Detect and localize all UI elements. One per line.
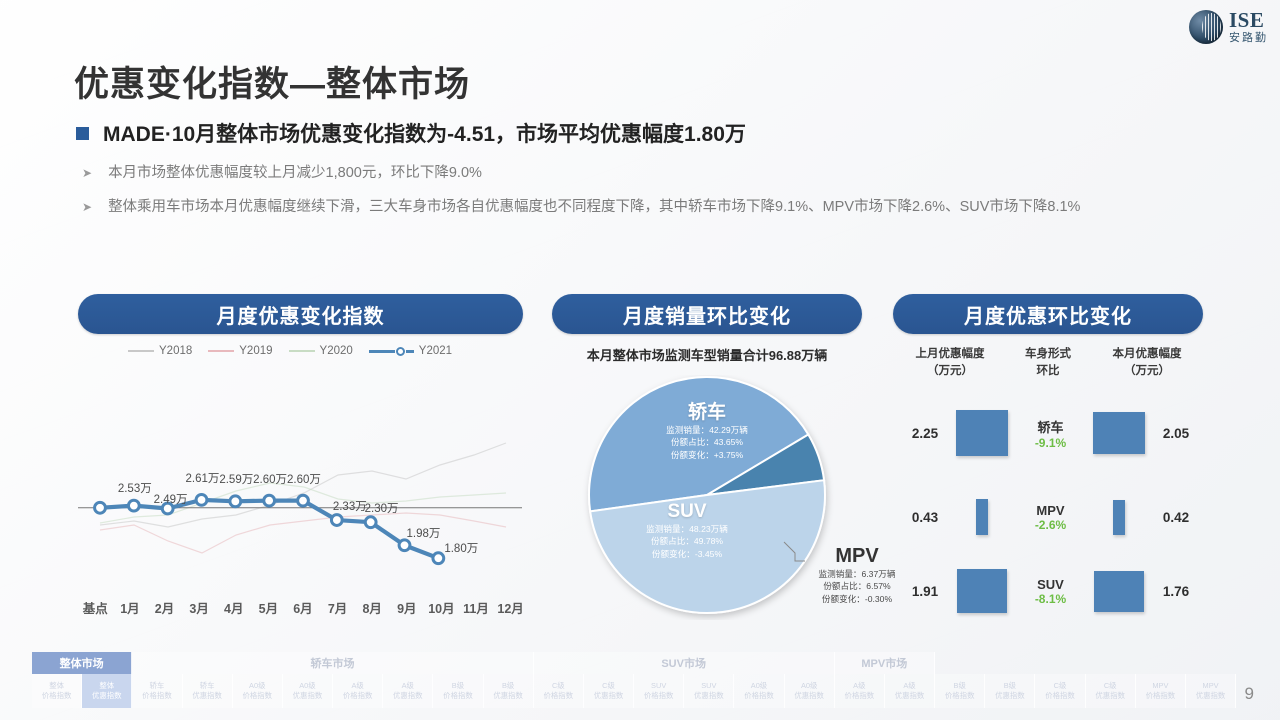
- nav-tab-14[interactable]: A0级价格指数: [734, 674, 784, 708]
- panel-title-pie-chart: 月度销量环比变化: [552, 294, 862, 334]
- nav-tab-13[interactable]: SUV优惠指数: [684, 674, 734, 708]
- headline: MADE·10月整体市场优惠变化指数为-4.51，市场平均优惠幅度1.80万: [76, 118, 746, 148]
- legend-label: Y2021: [419, 345, 452, 357]
- legend-item-Y2020: Y2020: [289, 345, 353, 357]
- line-data-point: [331, 515, 342, 526]
- legend-line-icon: [406, 350, 414, 353]
- change-percent: -8.1%: [1018, 592, 1083, 606]
- nav-tab-line2: 价格指数: [1146, 691, 1176, 701]
- x-tick-label: 2月: [147, 598, 182, 617]
- nav-tab-line1: A0级: [299, 681, 315, 691]
- nav-tab-line1: SUV: [701, 681, 716, 691]
- bar-row-label: 轿车-9.1%: [1018, 417, 1083, 450]
- nav-tab-0[interactable]: 整体价格指数: [32, 674, 82, 708]
- nav-tab-line2: 价格指数: [945, 691, 975, 701]
- x-tick-label: 1月: [113, 598, 148, 617]
- nav-tab-line1: C级: [552, 681, 565, 691]
- line-point-label: 1.80万: [444, 540, 478, 556]
- nav-tab-line1: 轿车: [150, 681, 165, 691]
- nav-tab-row[interactable]: 整体价格指数整体优惠指数轿车价格指数轿车优惠指数A0级价格指数A0级优惠指数A级…: [32, 674, 1236, 708]
- nav-tab-line2: 优惠指数: [393, 691, 423, 701]
- pie-chart-subtitle: 本月整体市场监测车型销量合计96.88万辆: [552, 345, 862, 364]
- change-percent: -9.1%: [1018, 436, 1083, 450]
- nav-tab-line2: 优惠指数: [1095, 691, 1125, 701]
- line-point-label: 2.33万: [333, 498, 367, 514]
- bar-col-header-prev: 上月优惠幅度（万元）: [898, 346, 1002, 381]
- headline-text: MADE·10月整体市场优惠变化指数为-4.51，市场平均优惠幅度1.80万: [103, 118, 746, 148]
- line-data-point: [128, 500, 139, 511]
- line-data-point: [399, 540, 410, 551]
- nav-tab-23[interactable]: MPV优惠指数: [1186, 674, 1236, 708]
- nav-tab-line2: 优惠指数: [594, 691, 624, 701]
- nav-tab-18[interactable]: B级价格指数: [935, 674, 985, 708]
- line-point-label: 2.61万: [186, 470, 220, 486]
- nav-tab-line2: 价格指数: [644, 691, 674, 701]
- line-data-point: [95, 502, 106, 513]
- x-tick-label: 基点: [78, 598, 113, 617]
- legend-line-icon: [128, 350, 154, 352]
- nav-tab-line1: A级: [853, 681, 865, 691]
- nav-group-MPV市场[interactable]: MPV市场: [835, 652, 935, 674]
- current-value: 2.05: [1155, 426, 1203, 441]
- line-data-point: [298, 495, 309, 506]
- nav-tab-line2: 价格指数: [845, 691, 875, 701]
- bottom-navigation[interactable]: 整体市场轿车市场SUV市场MPV市场 整体价格指数整体优惠指数轿车价格指数轿车优…: [32, 652, 1236, 708]
- nav-tab-line2: 价格指数: [42, 691, 72, 701]
- nav-tab-line1: C级: [602, 681, 615, 691]
- nav-tab-line1: C级: [1054, 681, 1067, 691]
- nav-tab-line1: B级: [1004, 681, 1016, 691]
- line-point-label: 2.60万: [253, 471, 287, 487]
- line-data-point: [264, 495, 275, 506]
- nav-tab-line2: 优惠指数: [1196, 691, 1226, 701]
- category-name: MPV: [1018, 503, 1083, 518]
- bar-row-label: SUV-8.1%: [1018, 577, 1083, 606]
- legend-label: Y2019: [239, 345, 272, 357]
- x-tick-label: 4月: [216, 598, 251, 617]
- nav-tab-line2: 优惠指数: [192, 691, 222, 701]
- brand-name: ISE: [1229, 10, 1268, 31]
- nav-tab-15[interactable]: A0级优惠指数: [785, 674, 835, 708]
- legend-item-Y2019: Y2019: [208, 345, 272, 357]
- prev-bar: [956, 410, 1008, 456]
- page-number: 9: [1245, 684, 1254, 704]
- nav-tab-line1: A0级: [249, 681, 265, 691]
- nav-tab-line2: 优惠指数: [794, 691, 824, 701]
- bar-compare-row: 2.25轿车-9.1%2.05: [898, 398, 1203, 468]
- nav-tab-line1: A级: [402, 681, 414, 691]
- line-point-label: 2.49万: [154, 491, 188, 507]
- legend-item-Y2018: Y2018: [128, 345, 192, 357]
- nav-tab-line1: SUV: [651, 681, 666, 691]
- pie-slice-label-suv: SUV 监测销量：48.23万辆 份额占比：49.78% 份额变化：-3.45%: [582, 501, 792, 560]
- x-tick-label: 6月: [286, 598, 321, 617]
- brand-logo: ISE 安路勤: [1189, 10, 1268, 44]
- current-bar-cell: [1083, 500, 1155, 535]
- nav-tab-line1: B级: [954, 681, 966, 691]
- nav-tab-1[interactable]: 整体优惠指数: [82, 674, 132, 708]
- nav-tab-line2: 优惠指数: [493, 691, 523, 701]
- prev-bar-cell: [946, 569, 1018, 613]
- line-point-label: 2.60万: [287, 471, 321, 487]
- current-value: 1.76: [1155, 584, 1203, 599]
- nav-tab-20[interactable]: C级价格指数: [1035, 674, 1085, 708]
- legend-item-Y2021: Y2021: [369, 345, 452, 357]
- line-chart-legend: Y2018Y2019Y2020Y2021: [128, 345, 478, 357]
- bullet-text: 整体乘用车市场本月优惠幅度继续下滑，三大车身市场各自优惠幅度也不同程度下降，其中…: [108, 196, 1080, 220]
- nav-tab-line2: 价格指数: [744, 691, 774, 701]
- bar-col-header-change: 车身形式环比: [1000, 346, 1096, 381]
- category-name: 轿车: [1018, 417, 1083, 436]
- current-bar-cell: [1083, 412, 1155, 454]
- bar-col-header-current: 本月优惠幅度（万元）: [1094, 346, 1200, 381]
- prev-bar: [976, 499, 988, 535]
- nav-tab-11[interactable]: C级优惠指数: [584, 674, 634, 708]
- nav-tab-line1: MPV: [1203, 681, 1219, 691]
- nav-tab-line1: C级: [1104, 681, 1117, 691]
- nav-tab-line2: 优惠指数: [694, 691, 724, 701]
- bar-compare-row: 0.43MPV-2.6%0.42: [898, 482, 1203, 552]
- nav-tab-line2: 价格指数: [142, 691, 172, 701]
- legend-line-icon: [369, 350, 395, 353]
- nav-tab-line1: 整体: [99, 681, 114, 691]
- nav-group-row[interactable]: 整体市场轿车市场SUV市场MPV市场: [32, 652, 1236, 674]
- nav-tab-8[interactable]: B级价格指数: [433, 674, 483, 708]
- nav-tab-line1: A级: [351, 681, 363, 691]
- legend-label: Y2018: [159, 345, 192, 357]
- monthly-discount-index-line-chart: [78, 375, 528, 620]
- pie-slice-label-sedan: 轿车 监测销量：42.29万辆 份额占比：43.65% 份额变化：+3.75%: [592, 397, 822, 461]
- nav-tab-line1: A0级: [801, 681, 817, 691]
- nav-tab-4[interactable]: A0级价格指数: [233, 674, 283, 708]
- current-bar: [1093, 412, 1145, 454]
- change-percent: -2.6%: [1018, 518, 1083, 532]
- nav-tab-line2: 优惠指数: [895, 691, 925, 701]
- line-point-label: 1.98万: [407, 525, 441, 541]
- x-tick-label: 3月: [182, 598, 217, 617]
- nav-group-整体市场[interactable]: 整体市场: [32, 652, 132, 674]
- slide-canvas: ISE 安路勤 优惠变化指数—整体市场 MADE·10月整体市场优惠变化指数为-…: [0, 0, 1280, 720]
- line-data-point: [365, 517, 376, 528]
- line-point-label: 2.59万: [219, 471, 253, 487]
- nav-tab-line2: 优惠指数: [293, 691, 323, 701]
- legend-line-icon: [208, 350, 234, 352]
- bar-row-label: MPV-2.6%: [1018, 503, 1083, 532]
- globe-icon: [1189, 10, 1223, 44]
- bullet-item: ➤ 本月市场整体优惠幅度较上月减少1,800元，环比下降9.0%: [82, 162, 1202, 186]
- nav-tab-line2: 优惠指数: [995, 691, 1025, 701]
- nav-tab-12[interactable]: SUV价格指数: [634, 674, 684, 708]
- nav-tab-22[interactable]: MPV价格指数: [1136, 674, 1186, 708]
- nav-tab-line1: B级: [452, 681, 464, 691]
- nav-tab-line2: 价格指数: [343, 691, 373, 701]
- x-tick-label: 12月: [493, 598, 528, 617]
- nav-group-SUV市场[interactable]: SUV市场: [534, 652, 835, 674]
- nav-tab-17[interactable]: A级优惠指数: [885, 674, 935, 708]
- bullet-square-icon: [76, 127, 89, 140]
- nav-tab-line2: 价格指数: [544, 691, 574, 701]
- nav-tab-line2: 价格指数: [443, 691, 473, 701]
- nav-tab-line1: B级: [502, 681, 514, 691]
- current-value: 0.42: [1155, 510, 1203, 525]
- panel-title-bar-chart: 月度优惠环比变化: [893, 294, 1203, 334]
- prev-value: 1.91: [898, 584, 946, 599]
- bar-compare-row: 1.91SUV-8.1%1.76: [898, 556, 1203, 626]
- x-tick-label: 7月: [320, 598, 355, 617]
- prev-value: 0.43: [898, 510, 946, 525]
- nav-tab-5[interactable]: A0级优惠指数: [283, 674, 333, 708]
- x-tick-label: 10月: [424, 598, 459, 617]
- bullet-item: ➤ 整体乘用车市场本月优惠幅度继续下滑，三大车身市场各自优惠幅度也不同程度下降，…: [82, 196, 1212, 220]
- legend-line-icon: [289, 350, 315, 352]
- x-tick-label: 11月: [459, 598, 494, 617]
- nav-tab-line1: 整体: [49, 681, 64, 691]
- line-chart-x-axis: 基点1月2月3月4月5月6月7月8月9月10月11月12月: [78, 598, 528, 617]
- brand-name-cn: 安路勤: [1229, 33, 1268, 44]
- x-tick-label: 8月: [355, 598, 390, 617]
- nav-tab-3[interactable]: 轿车优惠指数: [183, 674, 233, 708]
- nav-tab-16[interactable]: A级价格指数: [835, 674, 885, 708]
- page-title: 优惠变化指数—整体市场: [74, 56, 470, 107]
- prev-bar: [957, 569, 1007, 613]
- prev-bar-cell: [946, 499, 1018, 535]
- legend-label: Y2020: [320, 345, 353, 357]
- nav-tab-line2: 优惠指数: [92, 691, 122, 701]
- panel-title-line-chart: 月度优惠变化指数: [78, 294, 523, 334]
- x-tick-label: 9月: [389, 598, 424, 617]
- bullet-text: 本月市场整体优惠幅度较上月减少1,800元，环比下降9.0%: [108, 162, 482, 186]
- prev-bar-cell: [946, 410, 1018, 456]
- line-point-label: 2.30万: [365, 500, 399, 516]
- nav-tab-line1: MPV: [1152, 681, 1168, 691]
- nav-tab-19[interactable]: B级优惠指数: [985, 674, 1035, 708]
- nav-tab-line1: A0级: [751, 681, 767, 691]
- nav-tab-line2: 价格指数: [242, 691, 272, 701]
- nav-tab-line1: 轿车: [200, 681, 215, 691]
- line-data-point: [230, 496, 241, 507]
- current-bar: [1094, 571, 1144, 612]
- nav-tab-line1: A级: [903, 681, 915, 691]
- nav-tab-2[interactable]: 轿车价格指数: [132, 674, 182, 708]
- nav-group-轿车市场[interactable]: 轿车市场: [132, 652, 533, 674]
- category-name: SUV: [1018, 577, 1083, 592]
- arrow-icon: ➤: [82, 196, 92, 220]
- nav-tab-6[interactable]: A级价格指数: [333, 674, 383, 708]
- line-data-point: [196, 494, 207, 505]
- legend-marker-icon: [396, 347, 405, 356]
- nav-tab-10[interactable]: C级价格指数: [534, 674, 584, 708]
- nav-tab-line2: 价格指数: [1045, 691, 1075, 701]
- nav-tab-7[interactable]: A级优惠指数: [383, 674, 433, 708]
- prev-value: 2.25: [898, 426, 946, 441]
- nav-tab-21[interactable]: C级优惠指数: [1086, 674, 1136, 708]
- line-data-point: [433, 553, 444, 564]
- arrow-icon: ➤: [82, 162, 92, 186]
- x-tick-label: 5月: [251, 598, 286, 617]
- current-bar: [1113, 500, 1125, 535]
- nav-tab-9[interactable]: B级优惠指数: [484, 674, 534, 708]
- current-bar-cell: [1083, 571, 1155, 612]
- line-point-label: 2.53万: [118, 480, 152, 496]
